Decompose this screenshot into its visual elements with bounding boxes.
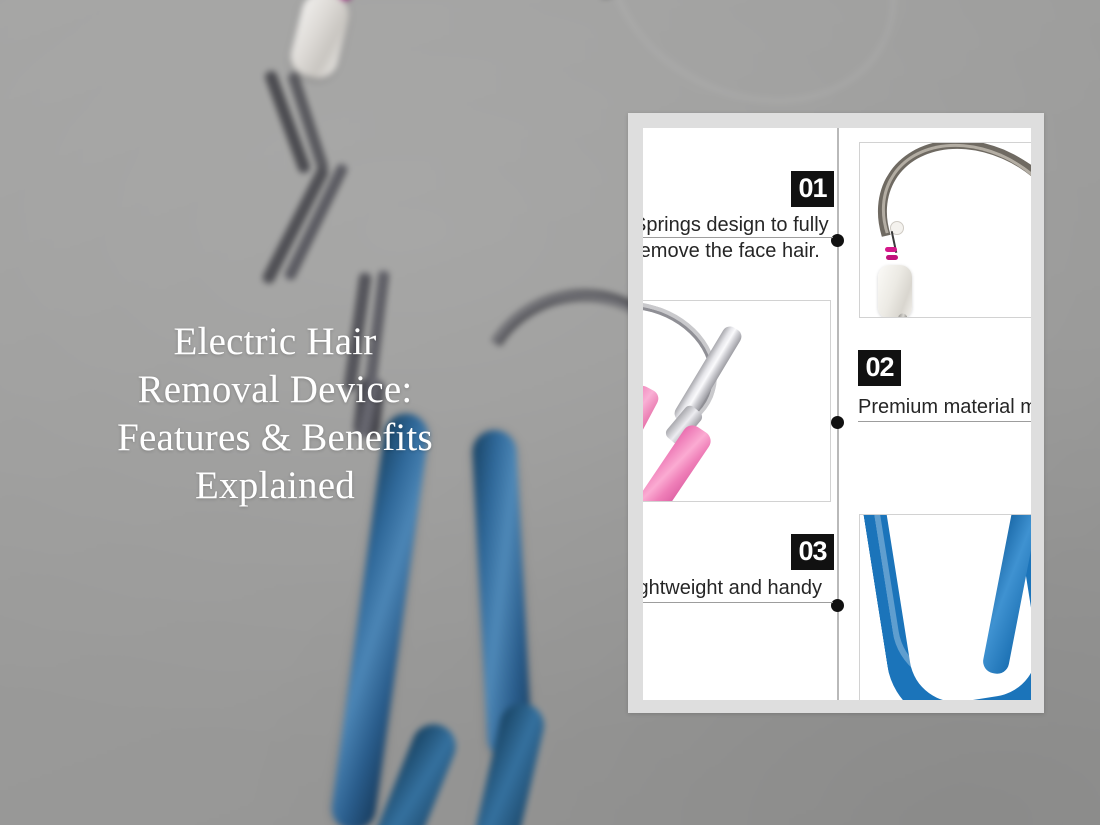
step-caption-01: Springs design to fully remove the face … xyxy=(643,212,833,264)
step-image-02 xyxy=(643,300,831,502)
tile1-magenta-bead-1 xyxy=(885,247,897,252)
step-rule-03 xyxy=(643,602,833,603)
timeline-dot-02 xyxy=(831,416,844,429)
step-badge-02: 02 xyxy=(858,350,901,386)
tile1-white-bead xyxy=(878,265,912,318)
step-badge-01: 01 xyxy=(791,171,834,207)
step-rule-02 xyxy=(858,421,1031,422)
product-infographic-panel: 01 Springs design to fully remove the fa… xyxy=(628,113,1044,713)
timeline-spine xyxy=(837,128,839,700)
screenshot-canvas: Electric Hair Removal Device: Features &… xyxy=(0,0,1100,825)
step-image-01 xyxy=(859,142,1031,318)
step-rule-01 xyxy=(643,237,833,238)
page-title: Electric Hair Removal Device: Features &… xyxy=(42,318,508,510)
step-image-03 xyxy=(859,514,1031,700)
tile1-magenta-bead-2 xyxy=(886,255,898,260)
step-badge-03: 03 xyxy=(791,534,834,570)
step-caption-02: Premium material m xyxy=(858,394,1031,420)
step-caption-03: ightweight and handy xyxy=(643,575,833,601)
infographic-content: 01 Springs design to fully remove the fa… xyxy=(643,128,1031,700)
